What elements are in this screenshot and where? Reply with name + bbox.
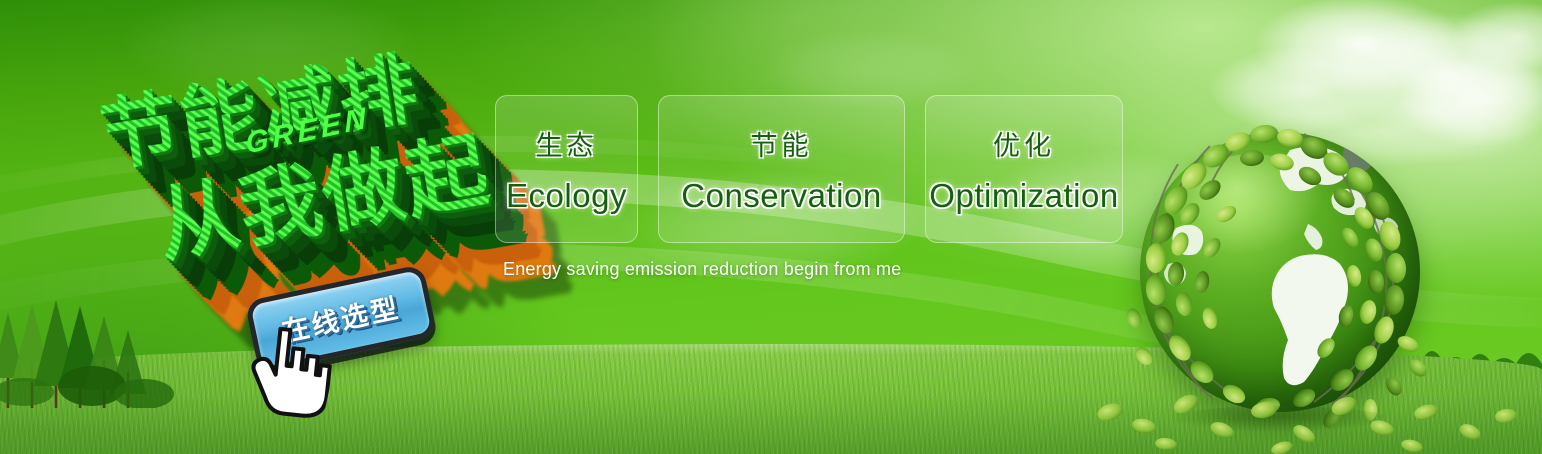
conifer-trees-icon <box>0 300 174 408</box>
feature-box-list: 生态 Ecology 节能 Conservation 优化 Optimizati… <box>495 95 1123 243</box>
banner-tagline: Energy saving emission reduction begin f… <box>503 259 901 280</box>
feature-label-cn: 优化 <box>993 124 1055 163</box>
feature-label-cn: 生态 <box>536 124 598 163</box>
feature-label-en: Ecology <box>506 177 627 215</box>
globe-ivy-leaves <box>1118 118 1438 434</box>
feature-label-en: Optimization <box>929 177 1118 215</box>
globe-ground-shadow <box>1168 406 1390 432</box>
feature-label-en: Conservation <box>681 177 881 215</box>
feature-box-optimization[interactable]: 优化 Optimization <box>925 95 1123 243</box>
feature-box-conservation[interactable]: 节能 Conservation <box>658 95 905 243</box>
headline-3d-logo: 节能减排 GREEN 从我做起 <box>83 19 509 306</box>
feature-box-ecology[interactable]: 生态 Ecology <box>495 95 638 243</box>
feature-label-cn: 节能 <box>751 124 813 163</box>
eco-promo-banner: 节能减排 GREEN 从我做起 在线选型 生态 Ecology 节能 Conse… <box>0 0 1542 454</box>
green-leaf-globe-icon <box>1118 118 1438 434</box>
